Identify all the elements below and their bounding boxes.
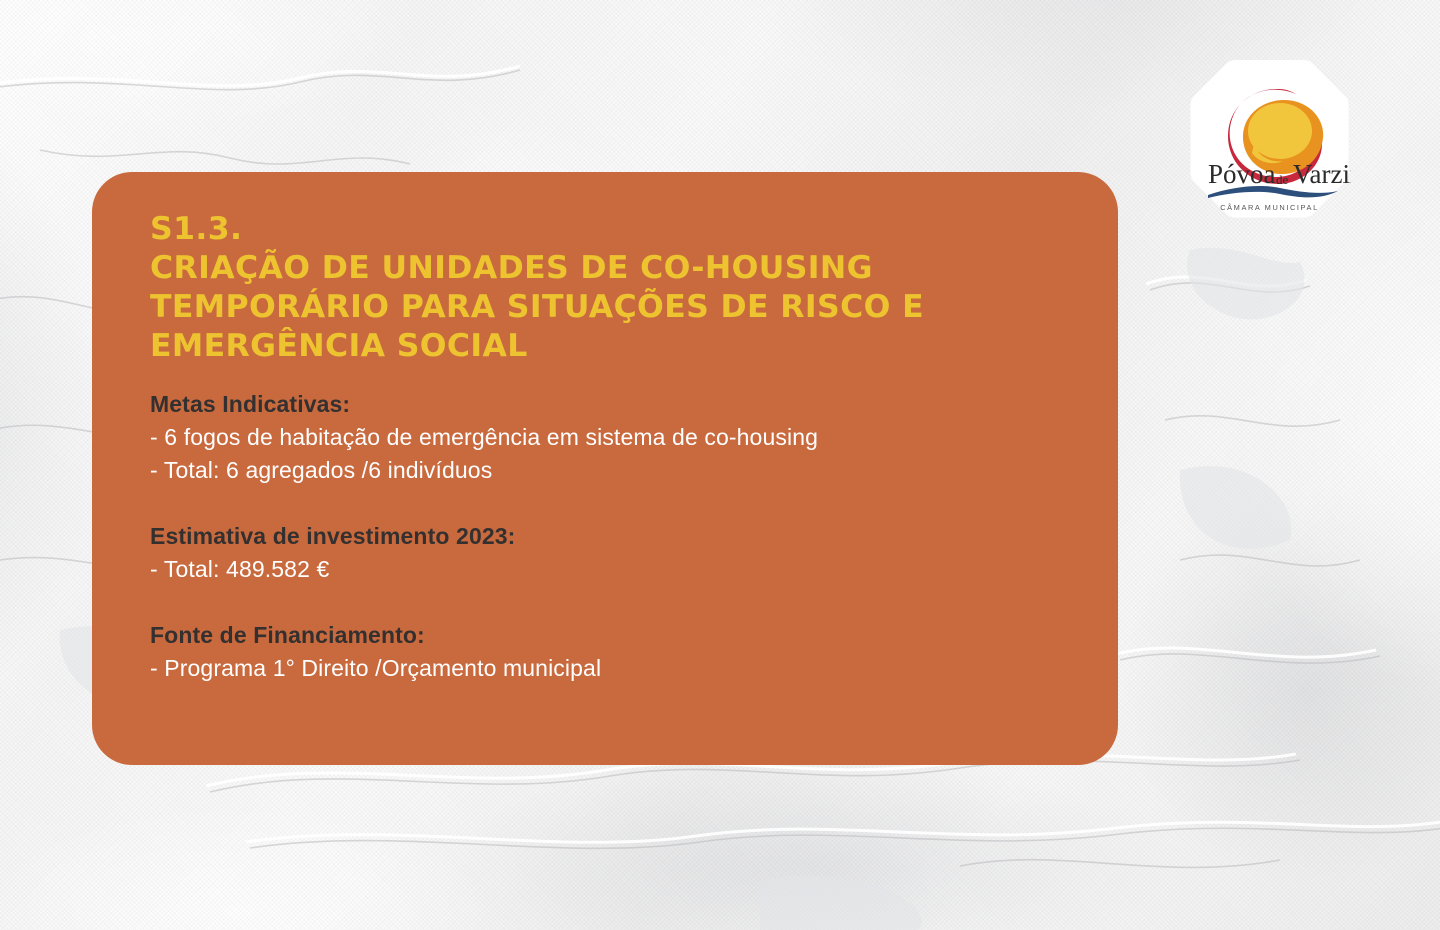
logo-name-part1: Póvoa	[1208, 159, 1276, 189]
spacer	[150, 487, 1072, 520]
card-code: S1.3.	[150, 210, 1072, 249]
section-heading-fonte: Fonte de Financiamento:	[150, 619, 1072, 652]
section-line-fonte-1: - Programa 1° Direito /Orçamento municip…	[150, 652, 1072, 685]
slide-canvas: S1.3. CRIAÇÃO DE UNIDADES DE CO-HOUSING …	[0, 0, 1440, 930]
card-title: CRIAÇÃO DE UNIDADES DE CO-HOUSING TEMPOR…	[150, 249, 1072, 366]
section-heading-estimativa: Estimativa de investimento 2023:	[150, 520, 1072, 553]
section-heading-metas: Metas Indicativas:	[150, 388, 1072, 421]
section-line-estimativa-1: - Total: 489.582 €	[150, 553, 1072, 586]
logo-subtitle: CÂMARA MUNICIPAL	[1220, 203, 1319, 212]
content-card: S1.3. CRIAÇÃO DE UNIDADES DE CO-HOUSING …	[92, 172, 1118, 765]
section-line-metas-1: - 6 fogos de habitação de emergência em …	[150, 421, 1072, 454]
logo-name-part2: Varzim	[1293, 159, 1351, 189]
card-body: Metas Indicativas: - 6 fogos de habitaçã…	[150, 388, 1072, 685]
povoa-de-varzim-logo: Póvoa de Varzim CÂMARA MUNICIPAL	[1188, 58, 1351, 220]
section-line-metas-2: - Total: 6 agregados /6 indivíduos	[150, 454, 1072, 487]
card-title-block: S1.3. CRIAÇÃO DE UNIDADES DE CO-HOUSING …	[150, 210, 1072, 366]
logo-name-de: de	[1276, 172, 1289, 187]
spacer	[150, 586, 1072, 619]
